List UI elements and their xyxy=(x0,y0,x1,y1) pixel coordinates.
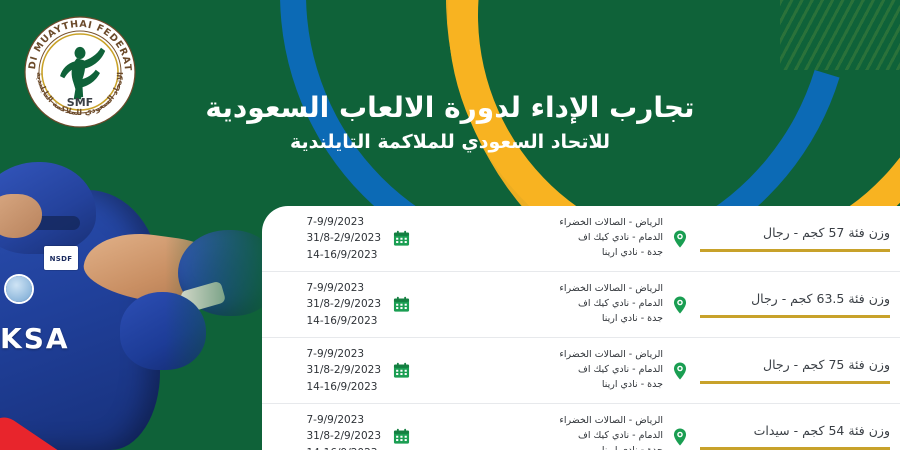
venue-list: الرياض - الصالات الخضراء الدمام - نادي ك… xyxy=(486,216,663,260)
calendar-icon xyxy=(393,362,410,379)
date-list: 7-9/9/2023 31/8-2/9/2023 14-16/9/2023 xyxy=(306,412,381,450)
venue-item: الرياض - الصالات الخضراء xyxy=(486,282,663,297)
venue-cell: الرياض - الصالات الخضراء الدمام - نادي ك… xyxy=(486,282,692,326)
date-list: 7-9/9/2023 31/8-2/9/2023 14-16/9/2023 xyxy=(306,346,381,395)
athlete-kit-text: KSA xyxy=(0,322,70,355)
date-item: 7-9/9/2023 xyxy=(306,214,381,230)
weight-category-cell: وزن فئة 57 كجم - رجال xyxy=(692,225,900,251)
calendar-icon xyxy=(393,428,410,445)
date-cell: 7-9/9/2023 31/8-2/9/2023 14-16/9/2023 xyxy=(262,280,486,329)
venue-item: الدمام - نادي كيك اف xyxy=(486,363,663,378)
date-item: 14-16/9/2023 xyxy=(306,247,381,263)
date-item: 14-16/9/2023 xyxy=(306,313,381,329)
date-item: 31/8-2/9/2023 xyxy=(306,296,381,312)
athlete-shoulder-patch xyxy=(6,276,32,302)
venue-item: الدمام - نادي كيك اف xyxy=(486,429,663,444)
venue-item: جدة - نادي ارينا xyxy=(486,378,663,393)
weight-category-underline xyxy=(700,381,890,384)
weight-category-label: وزن فئة 63.5 كجم - رجال xyxy=(700,291,890,307)
venue-cell: الرياض - الصالات الخضراء الدمام - نادي ك… xyxy=(486,348,692,392)
date-cell: 7-9/9/2023 31/8-2/9/2023 14-16/9/2023 xyxy=(262,412,486,450)
date-item: 31/8-2/9/2023 xyxy=(306,428,381,444)
date-cell: 7-9/9/2023 31/8-2/9/2023 14-16/9/2023 xyxy=(262,214,486,263)
athlete-photo: NSDF KSA xyxy=(0,150,300,450)
schedule-card: وزن فئة 57 كجم - رجال الرياض - الصالات ا… xyxy=(262,206,900,450)
decorative-corner-pattern xyxy=(780,0,900,70)
date-cell: 7-9/9/2023 31/8-2/9/2023 14-16/9/2023 xyxy=(262,346,486,395)
table-row: وزن فئة 63.5 كجم - رجال الرياض - الصالات… xyxy=(262,272,900,338)
location-pin-icon xyxy=(672,230,688,248)
date-item: 7-9/9/2023 xyxy=(306,346,381,362)
table-row: وزن فئة 57 كجم - رجال الرياض - الصالات ا… xyxy=(262,206,900,272)
date-item: 14-16/9/2023 xyxy=(306,445,381,450)
page-title: تجارب الإداء لدورة الالعاب السعودية xyxy=(170,90,730,126)
date-item: 31/8-2/9/2023 xyxy=(306,230,381,246)
date-item: 14-16/9/2023 xyxy=(306,379,381,395)
weight-category-cell: وزن فئة 63.5 كجم - رجال xyxy=(692,291,900,317)
weight-category-underline xyxy=(700,447,890,450)
venue-item: الرياض - الصالات الخضراء xyxy=(486,216,663,231)
venue-item: جدة - نادي ارينا xyxy=(486,246,663,261)
weight-category-cell: وزن فئة 54 كجم - سيدات xyxy=(692,423,900,449)
venue-item: الرياض - الصالات الخضراء xyxy=(486,414,663,429)
venue-cell: الرياض - الصالات الخضراء الدمام - نادي ك… xyxy=(486,216,692,260)
date-list: 7-9/9/2023 31/8-2/9/2023 14-16/9/2023 xyxy=(306,214,381,263)
location-pin-icon xyxy=(672,362,688,380)
venue-list: الرياض - الصالات الخضراء الدمام - نادي ك… xyxy=(486,414,663,450)
venue-list: الرياض - الصالات الخضراء الدمام - نادي ك… xyxy=(486,348,663,392)
poster-canvas: SAUDI MUAYTHAI FEDERATION الاتحاد السعود… xyxy=(0,0,900,450)
venue-item: جدة - نادي ارينا xyxy=(486,312,663,327)
venue-cell: الرياض - الصالات الخضراء الدمام - نادي ك… xyxy=(486,414,692,450)
venue-item: الرياض - الصالات الخضراء xyxy=(486,348,663,363)
federation-logo: SAUDI MUAYTHAI FEDERATION الاتحاد السعود… xyxy=(22,14,138,130)
venue-item: الدمام - نادي كيك اف xyxy=(486,297,663,312)
weight-category-underline xyxy=(700,249,890,252)
weight-category-cell: وزن فئة 75 كجم - رجال xyxy=(692,357,900,383)
weight-category-label: وزن فئة 75 كجم - رجال xyxy=(700,357,890,373)
calendar-icon xyxy=(393,230,410,247)
venue-item: جدة - نادي ارينا xyxy=(486,444,663,450)
sponsor-badge-nsdf: NSDF xyxy=(44,246,78,270)
date-list: 7-9/9/2023 31/8-2/9/2023 14-16/9/2023 xyxy=(306,280,381,329)
venue-item: الدمام - نادي كيك اف xyxy=(486,231,663,246)
athlete-boxing-glove-rear xyxy=(120,292,206,370)
date-item: 7-9/9/2023 xyxy=(306,280,381,296)
logo-abbreviation: SMF xyxy=(67,96,93,109)
date-item: 7-9/9/2023 xyxy=(306,412,381,428)
weight-category-label: وزن فئة 54 كجم - سيدات xyxy=(700,423,890,439)
table-row: وزن فئة 54 كجم - سيدات الرياض - الصالات … xyxy=(262,404,900,450)
sponsor-badge-label: NSDF xyxy=(50,255,73,263)
table-row: وزن فئة 75 كجم - رجال الرياض - الصالات ا… xyxy=(262,338,900,404)
date-item: 31/8-2/9/2023 xyxy=(306,362,381,378)
venue-list: الرياض - الصالات الخضراء الدمام - نادي ك… xyxy=(486,282,663,326)
weight-category-label: وزن فئة 57 كجم - رجال xyxy=(700,225,890,241)
headline-block: تجارب الإداء لدورة الالعاب السعودية للات… xyxy=(170,90,730,156)
weight-category-underline xyxy=(700,315,890,318)
location-pin-icon xyxy=(672,296,688,314)
location-pin-icon xyxy=(672,428,688,446)
calendar-icon xyxy=(393,296,410,313)
